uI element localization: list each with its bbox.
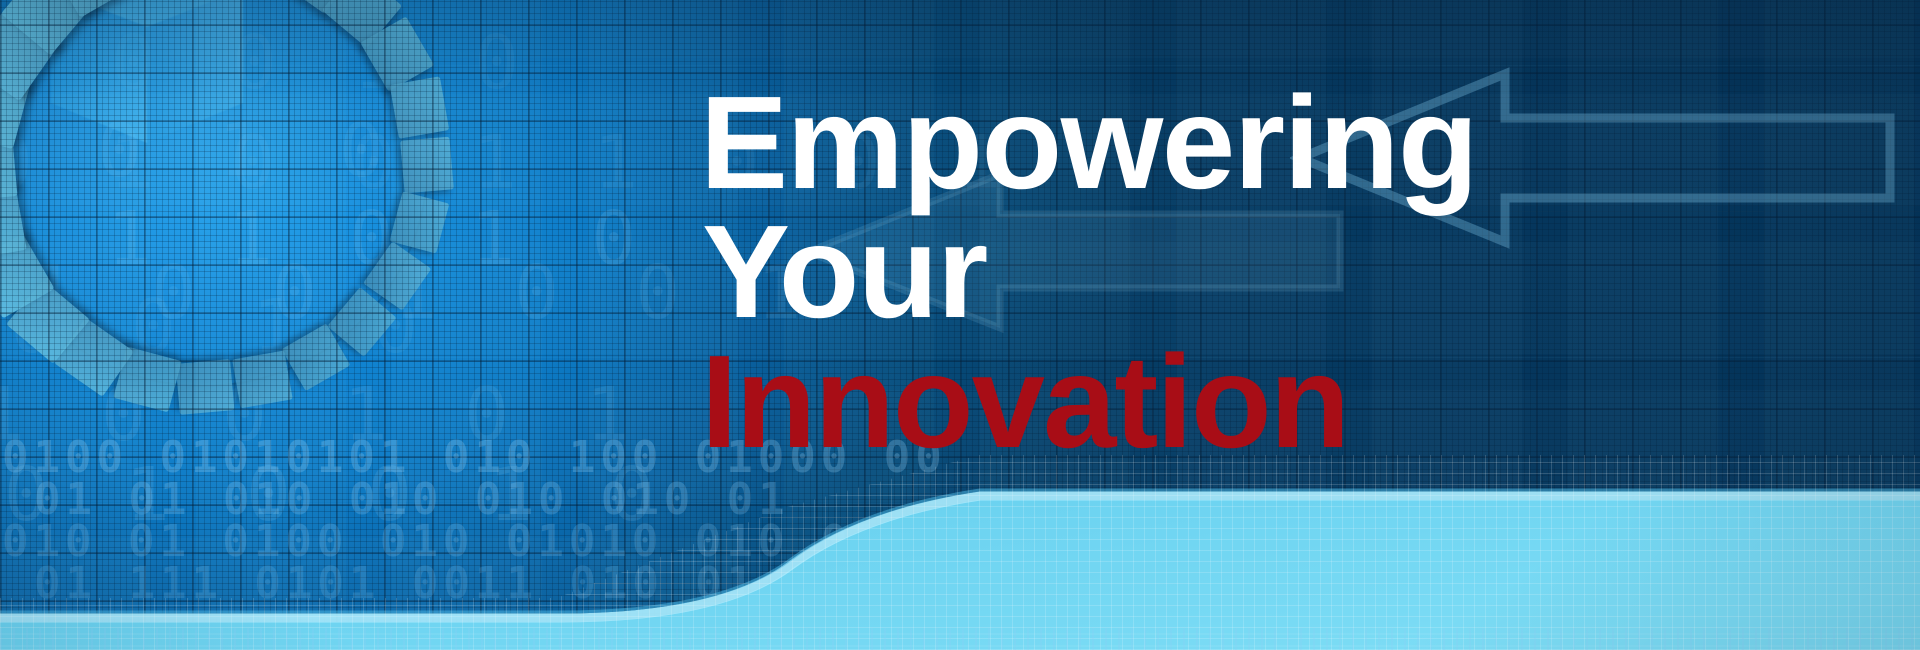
headline-block: Empowering Your Innovation — [700, 78, 1477, 466]
headline-line-2: Your — [702, 207, 1477, 336]
headline-line-3: Innovation — [701, 337, 1477, 466]
technology-banner: 1 0 0 1 01 0 1 00 1 1 0 1 00 0 1 01 0 0 … — [0, 0, 1920, 650]
headline-line-1: Empowering — [700, 78, 1477, 207]
